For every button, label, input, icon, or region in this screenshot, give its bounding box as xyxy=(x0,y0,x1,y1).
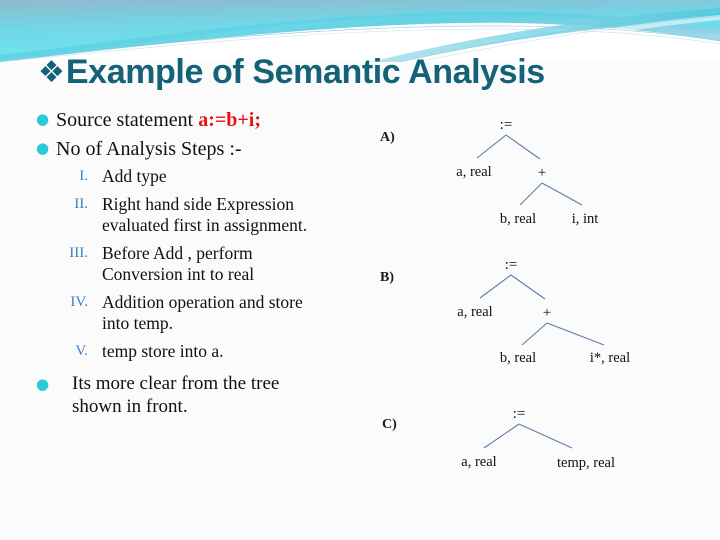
step-text: Before Add , perform Conversion int to r… xyxy=(102,243,334,285)
page-title: ❖ Example of Semantic Analysis xyxy=(38,55,545,91)
tree-label-b: B) xyxy=(380,270,394,286)
list-item: ● Source statement a:=b+i; xyxy=(36,108,366,132)
closing-text: Its more clear from the tree shown in fr… xyxy=(56,372,322,418)
tree-node-root: := xyxy=(505,257,518,274)
step-text: temp store into a. xyxy=(102,341,224,362)
step-numeral: I. xyxy=(62,166,102,187)
step-text: Addition operation and store into temp. xyxy=(102,292,334,334)
tree-diagram-c: C) :=a, realtemp, real xyxy=(370,405,720,505)
content-list: ● Source statement a:=b+i; ● No of Analy… xyxy=(36,108,366,418)
list-item: ● Its more clear from the tree shown in … xyxy=(36,372,366,418)
bullet-text: Source statement a:=b+i; xyxy=(56,108,261,132)
round-bullet-icon: ● xyxy=(36,137,56,159)
bullet-text: No of Analysis Steps :- xyxy=(56,137,242,161)
tree-node-left-child: a, real xyxy=(457,304,492,321)
bullet-label: Source statement xyxy=(56,109,198,131)
tree-node-plus-node: + xyxy=(538,165,546,182)
round-bullet-icon: ● xyxy=(36,372,56,396)
page-title-text: Example of Semantic Analysis xyxy=(66,55,545,91)
tree-node-i-node: i*, real xyxy=(590,350,630,367)
source-statement-code: a:=b+i; xyxy=(198,109,261,131)
round-bullet-icon: ● xyxy=(36,108,56,130)
tree-node-b-node: b, real xyxy=(500,211,536,228)
tree-diagram-a: A) :=a, real+b, reali, int xyxy=(370,105,720,240)
step-item: IV. Addition operation and store into te… xyxy=(62,292,366,334)
step-item: II. Right hand side Expression evaluated… xyxy=(62,194,366,236)
tree-node-i-node: i, int xyxy=(572,211,599,228)
step-text: Right hand side Expression evaluated fir… xyxy=(102,194,334,236)
tree-node-left-child: a, real xyxy=(456,164,491,181)
step-item: I. Add type xyxy=(62,166,366,187)
step-item: III. Before Add , perform Conversion int… xyxy=(62,243,366,285)
list-item: ● No of Analysis Steps :- xyxy=(36,137,366,161)
tree-node-root: := xyxy=(500,117,513,134)
tree-node-right-child: temp, real xyxy=(557,455,615,472)
steps-list: I. Add type II. Right hand side Expressi… xyxy=(62,166,366,362)
tree-node-root: := xyxy=(513,406,526,423)
tree-node-plus-node: + xyxy=(543,305,551,322)
tree-label-c: C) xyxy=(382,417,397,433)
step-item: V. temp store into a. xyxy=(62,341,366,362)
tree-diagram-b: B) :=a, real+b, reali*, real xyxy=(370,250,720,385)
step-text: Add type xyxy=(102,166,167,187)
step-numeral: V. xyxy=(62,341,102,362)
step-numeral: II. xyxy=(62,194,102,215)
diamond-bullet-icon: ❖ xyxy=(38,58,65,88)
tree-diagrams: A) :=a, real+b, reali, int B) :=a, real+… xyxy=(370,105,720,505)
tree-label-a: A) xyxy=(380,130,395,146)
tree-node-b-node: b, real xyxy=(500,350,536,367)
tree-node-left-child: a, real xyxy=(461,454,496,471)
step-numeral: IV. xyxy=(62,292,102,313)
tree-edges-c xyxy=(370,405,720,505)
step-numeral: III. xyxy=(62,243,102,264)
